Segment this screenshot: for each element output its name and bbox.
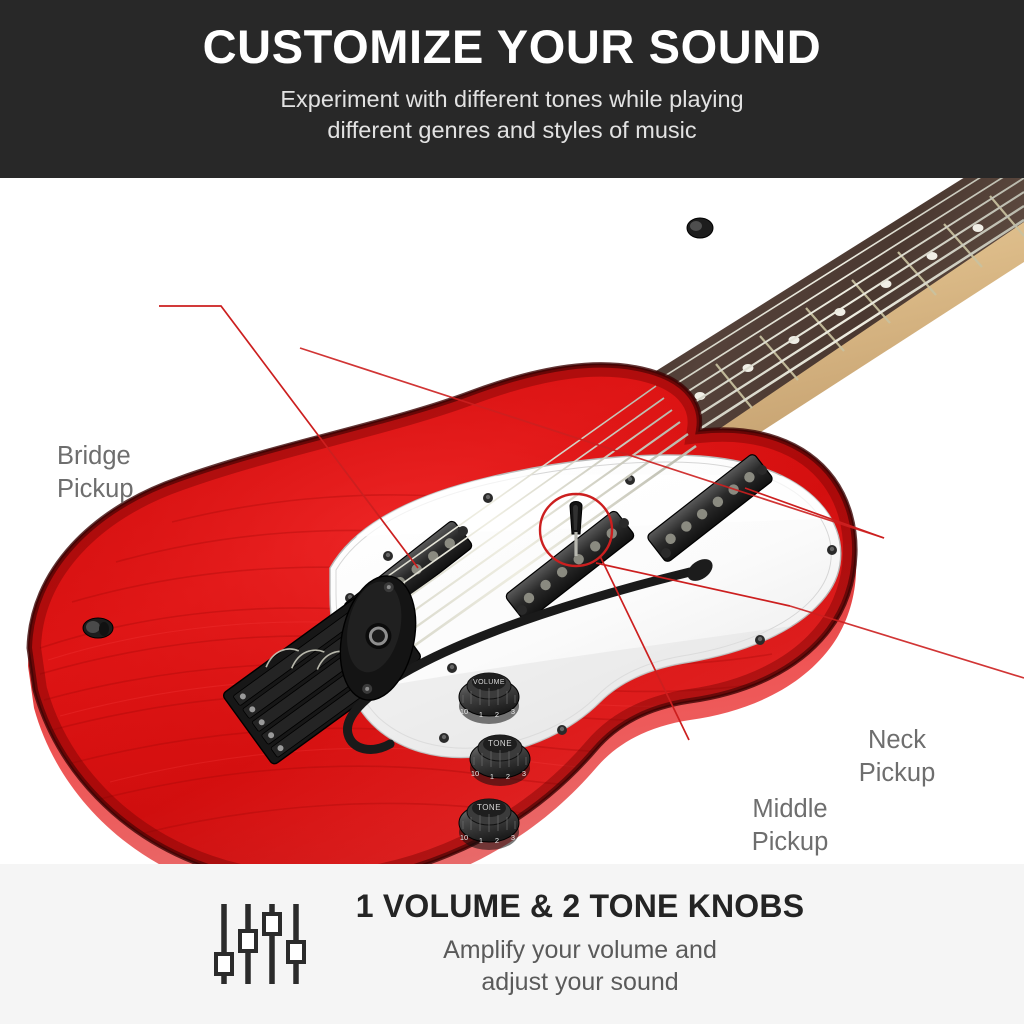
callout-neck-pickup: Neck Pickup [859, 724, 936, 790]
header-subtitle-line-1: Experiment with different tones while pl… [280, 84, 743, 115]
feature-panel: 1 VOLUME & 2 TONE KNOBS Amplify your vol… [0, 864, 1024, 1024]
feature-subtitle-line-2: adjust your sound [443, 966, 717, 999]
callout-middle-pickup-line-2: Pickup [752, 826, 829, 859]
strap-button-lower [83, 618, 113, 638]
svg-text:10: 10 [471, 769, 479, 778]
guitar-photo: VOLUME 101 23 [0, 178, 1024, 864]
feature-subtitle-line-1: Amplify your volume and [443, 934, 717, 967]
svg-text:1: 1 [479, 710, 483, 719]
infographic-page: CUSTOMIZE YOUR SOUND Experiment with dif… [0, 0, 1024, 1024]
feature-title: 1 VOLUME & 2 TONE KNOBS [356, 889, 805, 924]
svg-text:3: 3 [511, 707, 515, 716]
sliders-icon [212, 898, 316, 990]
header-subtitle: Experiment with different tones while pl… [280, 84, 743, 146]
svg-text:10: 10 [460, 707, 468, 716]
strap-button-upper [687, 218, 713, 238]
callout-bridge-pickup-line-2: Pickup [57, 473, 134, 506]
svg-text:2: 2 [506, 772, 510, 781]
header-subtitle-line-2: different genres and styles of music [280, 115, 743, 146]
callout-bridge-pickup-line-1: Bridge [57, 440, 134, 473]
header-banner: CUSTOMIZE YOUR SOUND Experiment with dif… [0, 0, 1024, 178]
svg-text:VOLUME: VOLUME [473, 679, 505, 686]
svg-text:10: 10 [460, 833, 468, 842]
callout-bridge-pickup: Bridge Pickup [57, 440, 134, 506]
callout-neck-pickup-line-1: Neck [859, 724, 936, 757]
svg-text:1: 1 [479, 836, 483, 845]
feature-subtitle: Amplify your volume and adjust your soun… [443, 934, 717, 999]
svg-text:3: 3 [522, 769, 526, 778]
svg-text:2: 2 [495, 836, 499, 845]
svg-text:1: 1 [490, 772, 494, 781]
callout-middle-pickup-line-1: Middle [752, 793, 829, 826]
svg-text:TONE: TONE [488, 739, 512, 748]
callout-middle-pickup: Middle Pickup [752, 793, 829, 859]
svg-text:TONE: TONE [477, 803, 501, 812]
callout-neck-pickup-line-2: Pickup [859, 757, 936, 790]
svg-text:2: 2 [495, 710, 499, 719]
header-title: CUSTOMIZE YOUR SOUND [203, 22, 822, 73]
svg-text:3: 3 [511, 833, 515, 842]
